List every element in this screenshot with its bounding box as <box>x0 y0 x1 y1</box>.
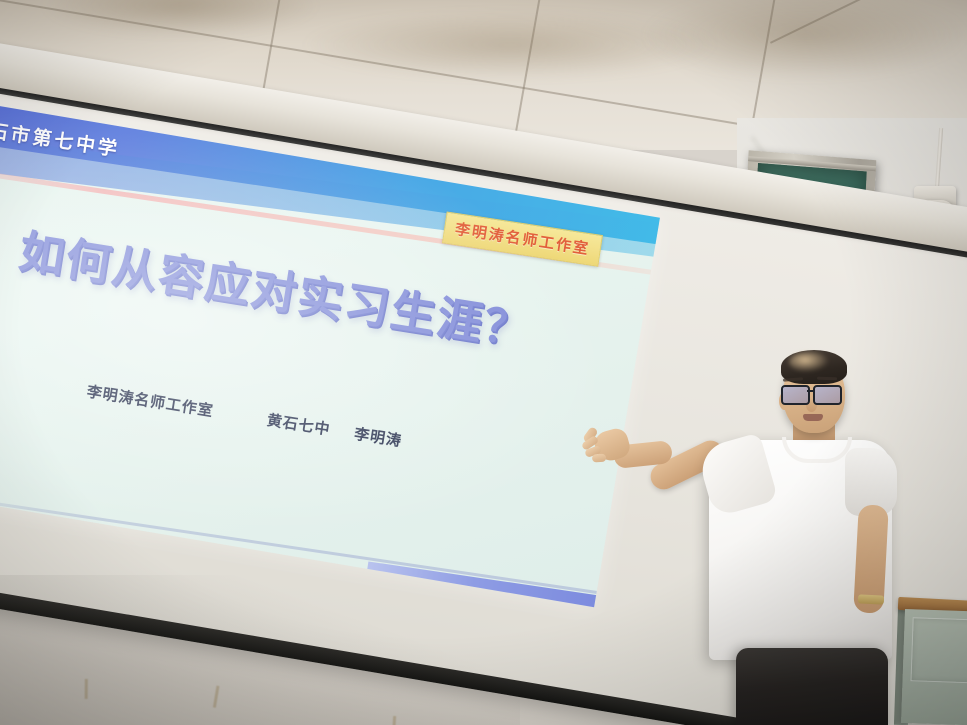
slide-subtitle-school: 黄石七中 <box>266 412 332 439</box>
slide-subtitle-studio: 李明涛名师工作室 <box>86 383 215 420</box>
cabinet <box>901 609 967 725</box>
slide-subtitle-row: 李明涛名师工作室 黄石七中 李明涛 <box>85 380 403 451</box>
classroom-scene: MBTI 结构化面试 内耗 自 尊 黄石市第七中学 李明涛名师工作室 如何从容应… <box>0 0 967 725</box>
cabinet-panel <box>911 617 967 685</box>
slide-subtitle-presenter: 李明涛 <box>353 426 403 450</box>
